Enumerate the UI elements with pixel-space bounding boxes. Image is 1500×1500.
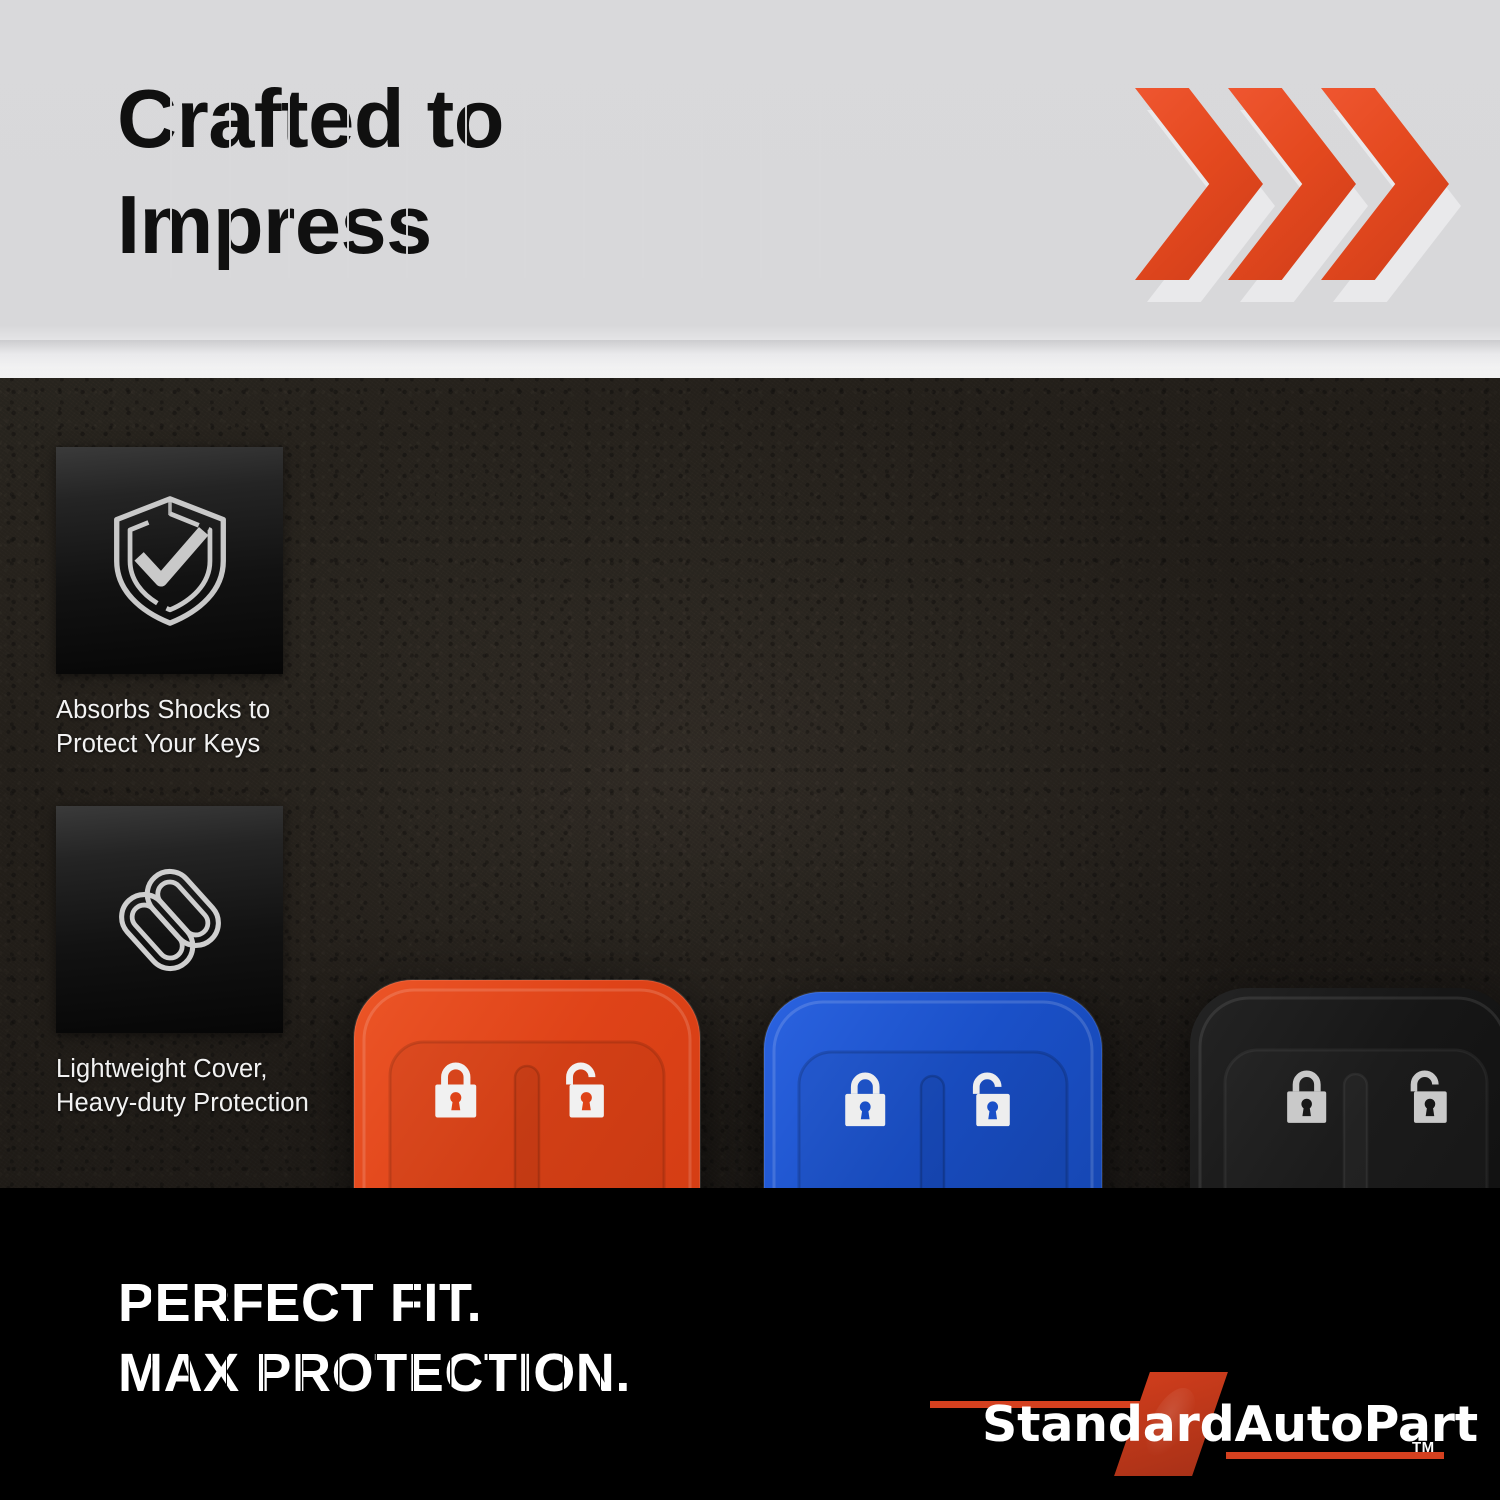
feature-label-line-2: Protect Your Keys — [56, 730, 260, 758]
feature-label-line-2: Heavy-duty Protection — [56, 1089, 309, 1117]
fob-center-channel — [921, 1076, 944, 1188]
key-fob-cover-blue[interactable]: x2 — [762, 990, 1104, 1188]
feature-icon-tile — [56, 447, 283, 674]
key-fob-cover-black[interactable]: x2 — [1188, 986, 1500, 1188]
tagline-line-2: MAX PROTECTION. — [118, 1338, 631, 1408]
feature-label: Lightweight Cover, Heavy-duty Protection — [56, 1053, 386, 1120]
brand-logo: StandardAutoPart TM — [930, 1378, 1445, 1474]
feature-label: Absorbs Shocks to Protect Your Keys — [56, 694, 386, 761]
page-title: Crafted to Impress — [117, 66, 877, 278]
feature-shock-absorption: Absorbs Shocks to Protect Your Keys — [56, 447, 386, 761]
chain-links-icon — [95, 845, 245, 995]
triple-chevron-right-icon — [1135, 55, 1480, 320]
header-divider-shadow — [0, 340, 1500, 380]
fob-center-channel — [1344, 1074, 1367, 1188]
headline-line-1: Crafted to — [117, 66, 877, 172]
tagline: PERFECT FIT. MAX PROTECTION. — [118, 1268, 631, 1408]
feature-icon-tile — [56, 806, 283, 1033]
shield-check-icon — [96, 487, 244, 635]
fob-center-channel — [515, 1066, 539, 1188]
trademark-symbol: TM — [1412, 1439, 1435, 1456]
chevron-right-icon — [1321, 88, 1449, 280]
key-fob-cover-orange[interactable]: x2 — [352, 978, 702, 1188]
product-marketing-image: Crafted to Impress Absorbs Sho — [0, 0, 1500, 1500]
tagline-line-1: PERFECT FIT. — [118, 1268, 631, 1338]
product-photo-section: Absorbs Shocks to Protect Your Keys Ligh… — [0, 378, 1500, 1188]
header-section: Crafted to Impress — [0, 0, 1500, 378]
feature-label-line-1: Absorbs Shocks to — [56, 696, 270, 724]
feature-label-line-1: Lightweight Cover, — [56, 1055, 268, 1083]
logo-text: StandardAutoPart — [982, 1396, 1478, 1453]
feature-lightweight-protection: Lightweight Cover, Heavy-duty Protection — [56, 806, 386, 1120]
headline-line-2: Impress — [117, 172, 877, 278]
